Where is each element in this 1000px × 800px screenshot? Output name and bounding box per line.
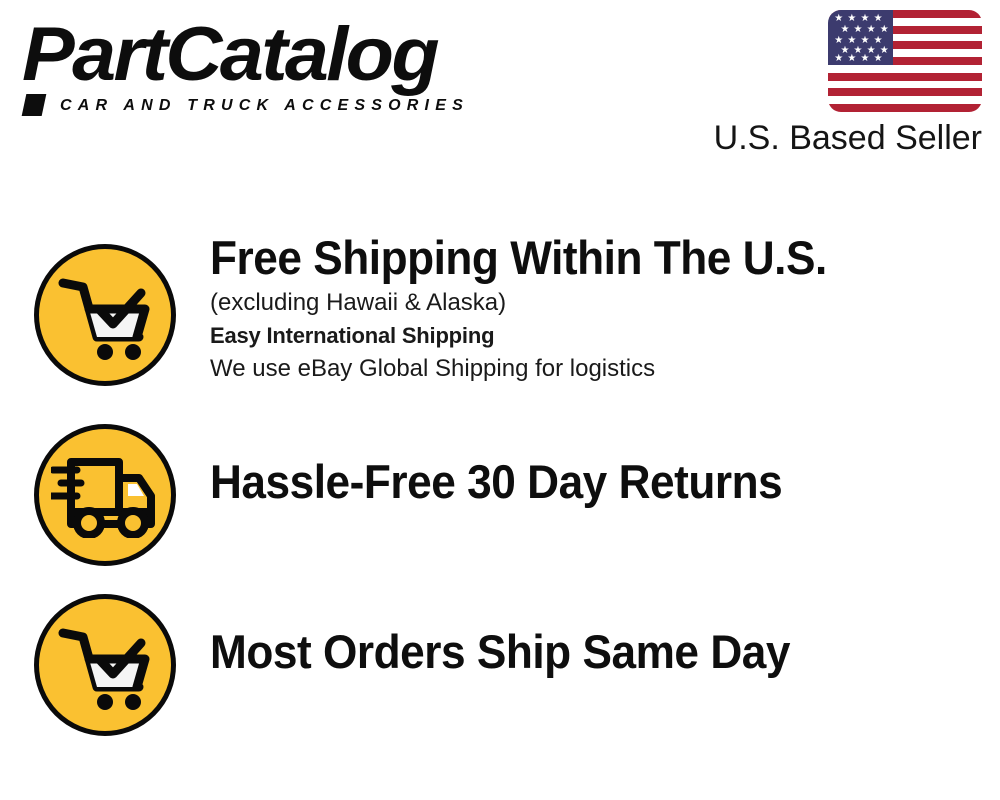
brand-tagline: CAR AND TRUCK ACCESSORIES [60, 97, 469, 116]
feature-subtitle-logistics: We use eBay Global Shipping for logistic… [210, 352, 1000, 386]
feature-icon-wrap [0, 230, 210, 386]
feature-row: Hassle-Free 30 Day Returns [0, 410, 1000, 566]
feature-title: Hassle-Free 30 Day Returns [210, 454, 953, 510]
page-header: PartCatalog CAR AND TRUCK ACCESSORIES ★ … [0, 0, 1000, 180]
brand-wordmark: PartCatalog [22, 18, 511, 92]
feature-subtitle-international: Easy International Shipping [210, 320, 1000, 352]
us-flag-icon: ★ ★ ★ ★ ★ ★ ★ ★ ★ ★ ★ ★ ★ ★ ★ ★ ★ ★ ★ ★ [828, 10, 982, 112]
feature-icon-wrap [0, 410, 210, 566]
feature-title: Most Orders Ship Same Day [210, 624, 953, 680]
feature-title: Free Shipping Within The U.S. [210, 230, 953, 286]
brand-accent-bar-icon [22, 94, 47, 116]
delivery-truck-icon [34, 424, 176, 566]
feature-text-block: Most Orders Ship Same Day [210, 580, 1000, 680]
feature-text-block: Hassle-Free 30 Day Returns [210, 410, 1000, 510]
brand-tagline-row: CAR AND TRUCK ACCESSORIES [24, 94, 492, 116]
feature-text-block: Free Shipping Within The U.S. (excluding… [210, 230, 1000, 386]
us-based-seller-badge: ★ ★ ★ ★ ★ ★ ★ ★ ★ ★ ★ ★ ★ ★ ★ ★ ★ ★ ★ ★ [682, 10, 982, 158]
shopping-cart-check-icon [34, 244, 176, 386]
flag-stars: ★ ★ ★ ★ ★ ★ ★ ★ ★ ★ ★ ★ ★ ★ ★ ★ ★ ★ ★ ★ [828, 10, 982, 112]
brand-logo[interactable]: PartCatalog CAR AND TRUCK ACCESSORIES [22, 18, 492, 116]
us-based-seller-label: U.S. Based Seller [682, 119, 982, 158]
feature-row: Free Shipping Within The U.S. (excluding… [0, 230, 1000, 386]
feature-subtitle-exclusions: (excluding Hawaii & Alaska) [210, 286, 1000, 320]
feature-row: Most Orders Ship Same Day [0, 580, 1000, 736]
shopping-cart-check-icon [34, 594, 176, 736]
feature-icon-wrap [0, 580, 210, 736]
